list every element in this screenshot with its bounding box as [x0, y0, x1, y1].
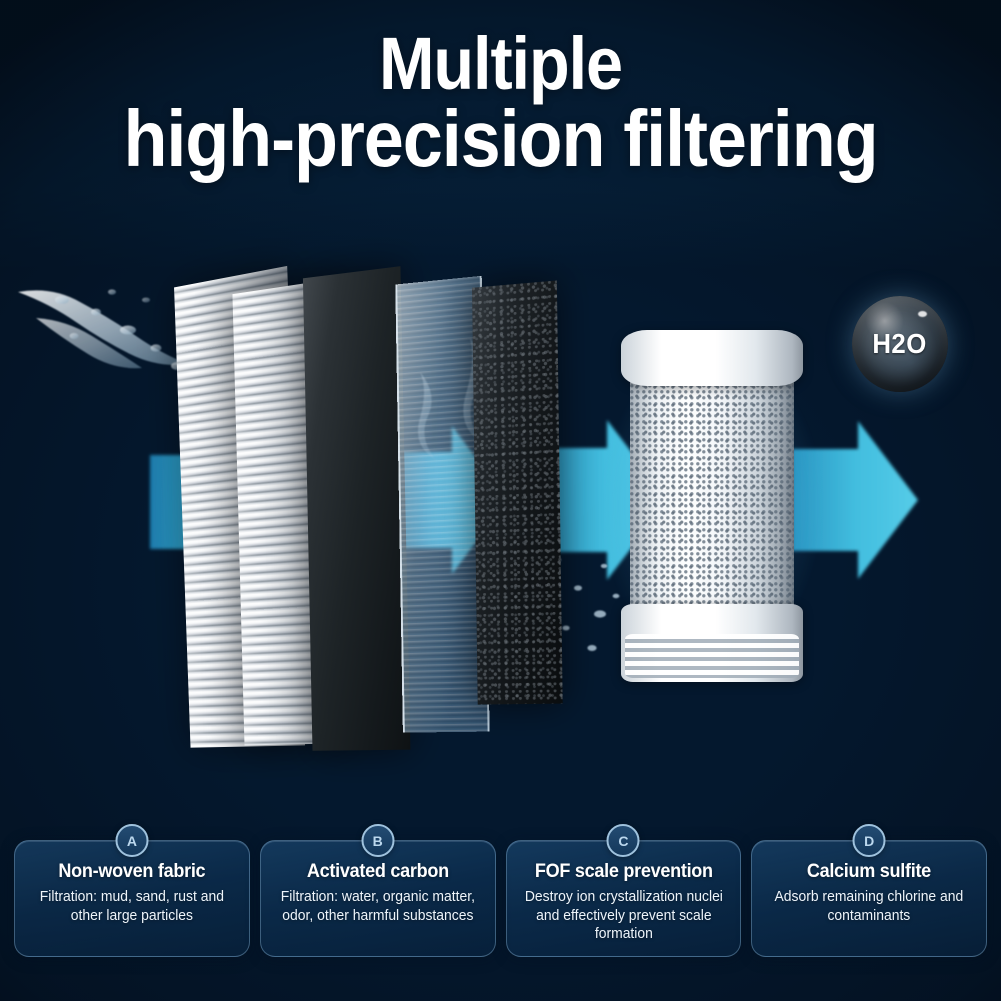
highlight-icon: [918, 311, 927, 317]
card-desc-a: Filtration: mud, sand, rust and other la…: [29, 888, 234, 925]
feature-card-b[interactable]: B Activated carbon Filtration: water, or…: [260, 840, 496, 957]
card-badge-c: C: [607, 824, 640, 857]
layer-carbon-foam: [472, 280, 563, 704]
feature-card-c[interactable]: C FOF scale prevention Destroy ion cryst…: [506, 840, 742, 957]
flow-arrow-4: [792, 421, 918, 579]
cartridge-top-cap: [621, 330, 803, 386]
h2o-label: H2O: [873, 328, 927, 360]
card-title-a: Non-woven fabric: [30, 861, 233, 883]
card-badge-d: D: [853, 824, 886, 857]
card-desc-d: Adsorb remaining chlorine and contaminan…: [767, 888, 972, 925]
card-badge-a: A: [115, 824, 148, 857]
charcoal-texture: [303, 266, 411, 751]
cartridge-bottom-cap: [621, 604, 803, 682]
cartridge-carbon-surface: [630, 372, 794, 626]
card-desc-c: Destroy ion crystallization nuclei and e…: [521, 888, 726, 944]
cartridge-threads: [625, 634, 799, 678]
card-desc-b: Filtration: water, organic matter, odor,…: [275, 888, 480, 925]
foam-texture: [472, 280, 563, 704]
feature-card-a[interactable]: A Non-woven fabric Filtration: mud, sand…: [14, 840, 250, 957]
feature-cards: A Non-woven fabric Filtration: mud, sand…: [14, 840, 987, 957]
infographic-stage: Multiple high-precision filtering: [0, 0, 1001, 1001]
card-title-c: FOF scale prevention: [522, 861, 725, 883]
h2o-badge: H2O: [852, 296, 948, 392]
feature-card-d[interactable]: D Calcium sulfite Adsorb remaining chlor…: [751, 840, 987, 957]
card-title-b: Activated carbon: [276, 861, 479, 883]
carbon-block-cartridge: [630, 330, 794, 682]
card-badge-b: B: [361, 824, 394, 857]
layer-charcoal-panel: [303, 266, 411, 751]
card-title-d: Calcium sulfite: [768, 861, 971, 883]
